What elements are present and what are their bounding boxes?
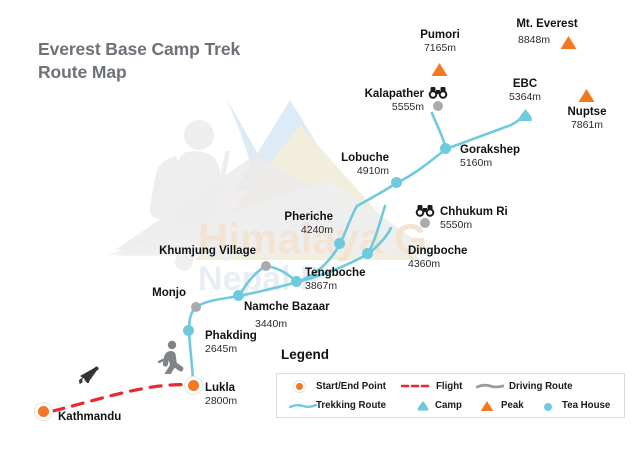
label-lukla: Lukla 2800m (205, 382, 237, 408)
legend-camp-icon (417, 400, 429, 411)
label-namche-bazaar: Namche Bazaar (244, 301, 330, 314)
place-elevation: 4240m (283, 224, 333, 237)
place-elevation: 3867m (305, 280, 365, 293)
start-point-dot (38, 406, 49, 417)
marker-khumjung-village-dot[interactable] (261, 261, 271, 271)
hiker-icon (157, 340, 187, 374)
place-name: Kalapather (352, 88, 424, 101)
start-point-dot (188, 380, 199, 391)
label-mt-everest: Mt. Everest (500, 18, 594, 31)
place-name: Chhukum Ri (440, 206, 508, 219)
marker-mt-everest-peak-icon[interactable] (560, 35, 577, 50)
place-name: Phakding (205, 330, 257, 343)
marker-ebc-camp-icon[interactable] (518, 108, 533, 122)
place-name: Namche Bazaar (244, 301, 330, 314)
airplane-icon (76, 364, 102, 386)
marker-kalapather-viewpoint-dot[interactable] (433, 101, 443, 111)
legend-label-driving-route: Driving Route (509, 382, 573, 392)
flight-route-path (53, 385, 193, 411)
label-lobuche: Lobuche 4910m (341, 152, 389, 178)
place-name: Khumjung Village (152, 245, 256, 258)
label-monjo: Monjo (136, 287, 186, 300)
label-dingboche: Dingboche 4360m (408, 245, 467, 271)
trekking-route-lobuche-gorakshep (397, 149, 446, 183)
label-mt-everest-elevation: 8848m (518, 34, 550, 47)
place-elevation: 4910m (341, 165, 389, 178)
place-name: Lobuche (341, 152, 389, 165)
label-nuptse: Nuptse 7861m (555, 106, 619, 132)
marker-dingboche-tea-house[interactable] (362, 248, 373, 259)
marker-lukla-start-point[interactable] (184, 376, 203, 395)
place-elevation: 3440m (255, 318, 287, 331)
label-pheriche: Pheriche 4240m (283, 211, 333, 237)
label-phakding: Phakding 2645m (205, 330, 257, 356)
marker-pumori-peak-icon[interactable] (431, 62, 448, 77)
place-name: Dingboche (408, 245, 467, 258)
place-elevation: 5160m (460, 157, 520, 170)
everest-base-camp-trek-route-map: Himalaya G Nepal P Everest Base Camp Tre… (0, 0, 632, 457)
place-name: Mt. Everest (500, 18, 594, 31)
marker-namche-bazaar-tea-house[interactable] (233, 290, 244, 301)
binoculars-icon-chhukum-ri (415, 204, 435, 218)
place-name: Nuptse (555, 106, 619, 119)
legend-label-camp: Camp (435, 401, 462, 411)
label-pumori: Pumori 7165m (408, 29, 472, 55)
place-elevation: 7861m (555, 119, 619, 132)
place-elevation: 2645m (205, 343, 257, 356)
legend-trekking-route-line-icon (289, 403, 317, 409)
place-name: Pumori (408, 29, 472, 42)
legend-driving-route-line-icon (476, 383, 504, 389)
place-elevation: 7165m (408, 42, 472, 55)
marker-tengboche-tea-house[interactable] (291, 276, 302, 287)
marker-kathmandu-start-point[interactable] (34, 402, 53, 421)
legend-tea-house-dot-icon (544, 403, 552, 411)
start-point-inner-dot (296, 383, 303, 390)
binoculars-icon-kalapather (428, 86, 448, 100)
marker-chhukum-ri-viewpoint-dot[interactable] (420, 218, 430, 228)
label-ebc: EBC 5364m (495, 78, 555, 104)
marker-lobuche-tea-house[interactable] (391, 177, 402, 188)
marker-pheriche-tea-house[interactable] (334, 238, 345, 249)
place-name: Monjo (136, 287, 186, 300)
place-name: Lukla (205, 382, 237, 395)
label-gorakshep: Gorakshep 5160m (460, 144, 520, 170)
place-name: Tengboche (305, 267, 365, 280)
place-elevation: 4360m (408, 258, 467, 271)
label-tengboche: Tengboche 3867m (305, 267, 365, 293)
label-namche-bazaar-elevation: 3440m (255, 318, 287, 331)
place-elevation: 5364m (495, 91, 555, 104)
marker-monjo-dot[interactable] (191, 302, 201, 312)
place-elevation: 2800m (205, 395, 237, 408)
legend-box: Start/End Point Flight Driving Route Tre… (276, 373, 625, 418)
label-khumjung-village: Khumjung Village (152, 245, 256, 258)
place-elevation: 5555m (352, 101, 424, 114)
place-name: EBC (495, 78, 555, 91)
marker-nuptse-peak-icon[interactable] (578, 88, 595, 103)
place-name: Gorakshep (460, 144, 520, 157)
label-kathmandu: Kathmandu (58, 411, 121, 424)
label-chhukum-ri: Chhukum Ri 5550m (440, 206, 508, 232)
legend-peak-triangle-icon (480, 400, 494, 412)
place-name: Pheriche (283, 211, 333, 224)
legend-label-start-end-point: Start/End Point (316, 382, 386, 392)
place-elevation: 8848m (518, 34, 550, 47)
place-elevation: 5550m (440, 219, 508, 232)
marker-phakding-tea-house[interactable] (183, 325, 194, 336)
place-name: Kathmandu (58, 411, 121, 424)
legend-start-point-icon (293, 380, 306, 393)
legend-label-flight: Flight (436, 382, 462, 392)
legend-flight-dashed-line-icon (401, 384, 431, 388)
trekking-route-junction-lobuche (357, 183, 397, 206)
legend-label-trekking-route: Trekking Route (316, 401, 386, 411)
legend-title: Legend (281, 347, 329, 362)
label-kalapather: Kalapather 5555m (352, 88, 424, 114)
legend-label-tea-house: Tea House (562, 401, 610, 411)
legend-label-peak: Peak (501, 401, 524, 411)
marker-gorakshep-tea-house[interactable] (440, 143, 451, 154)
